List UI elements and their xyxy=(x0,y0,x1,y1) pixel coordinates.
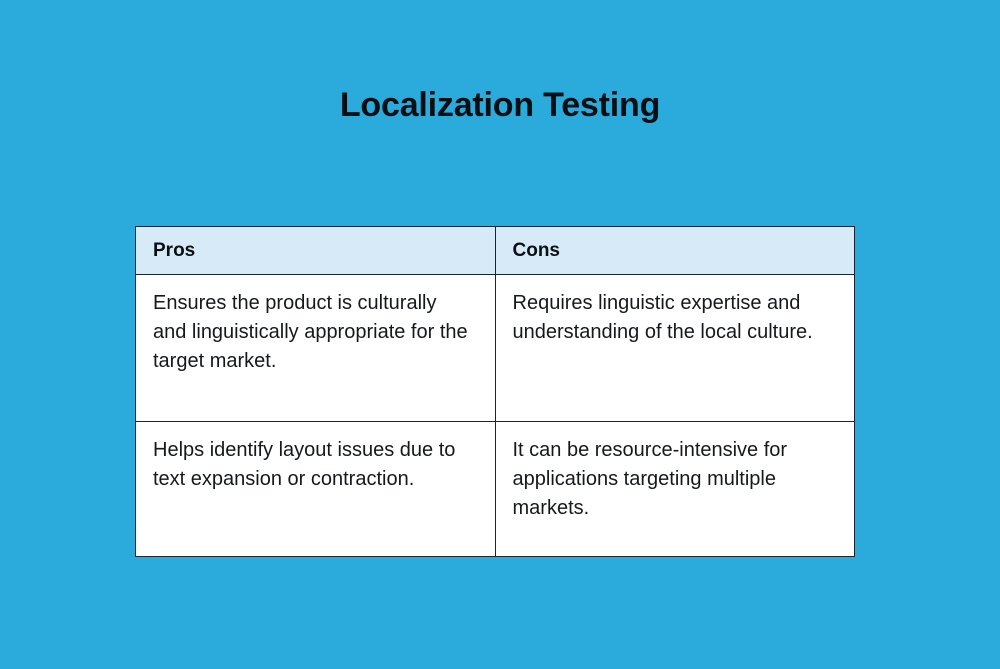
column-header-cons: Cons xyxy=(495,227,855,275)
cell-text: Requires linguistic expertise and unders… xyxy=(513,289,831,347)
cell-cons-2: It can be resource-intensive for applica… xyxy=(495,422,855,557)
cell-text: It can be resource-intensive for applica… xyxy=(513,436,831,523)
table-body: Ensures the product is culturally and li… xyxy=(136,275,855,557)
slide-canvas: Localization Testing Pros Cons Ensures t… xyxy=(0,0,1000,669)
cell-text: Helps identify layout issues due to text… xyxy=(153,436,471,494)
cell-pros-1: Ensures the product is culturally and li… xyxy=(136,275,496,422)
cell-pros-2: Helps identify layout issues due to text… xyxy=(136,422,496,557)
table-header: Pros Cons xyxy=(136,227,855,275)
pros-cons-table: Pros Cons Ensures the product is cultura… xyxy=(135,226,855,557)
cell-text: Ensures the product is culturally and li… xyxy=(153,289,471,376)
table-header-row: Pros Cons xyxy=(136,227,855,275)
column-header-pros: Pros xyxy=(136,227,496,275)
table-row: Helps identify layout issues due to text… xyxy=(136,422,855,557)
cell-cons-1: Requires linguistic expertise and unders… xyxy=(495,275,855,422)
table-row: Ensures the product is culturally and li… xyxy=(136,275,855,422)
page-title: Localization Testing xyxy=(0,83,1000,127)
